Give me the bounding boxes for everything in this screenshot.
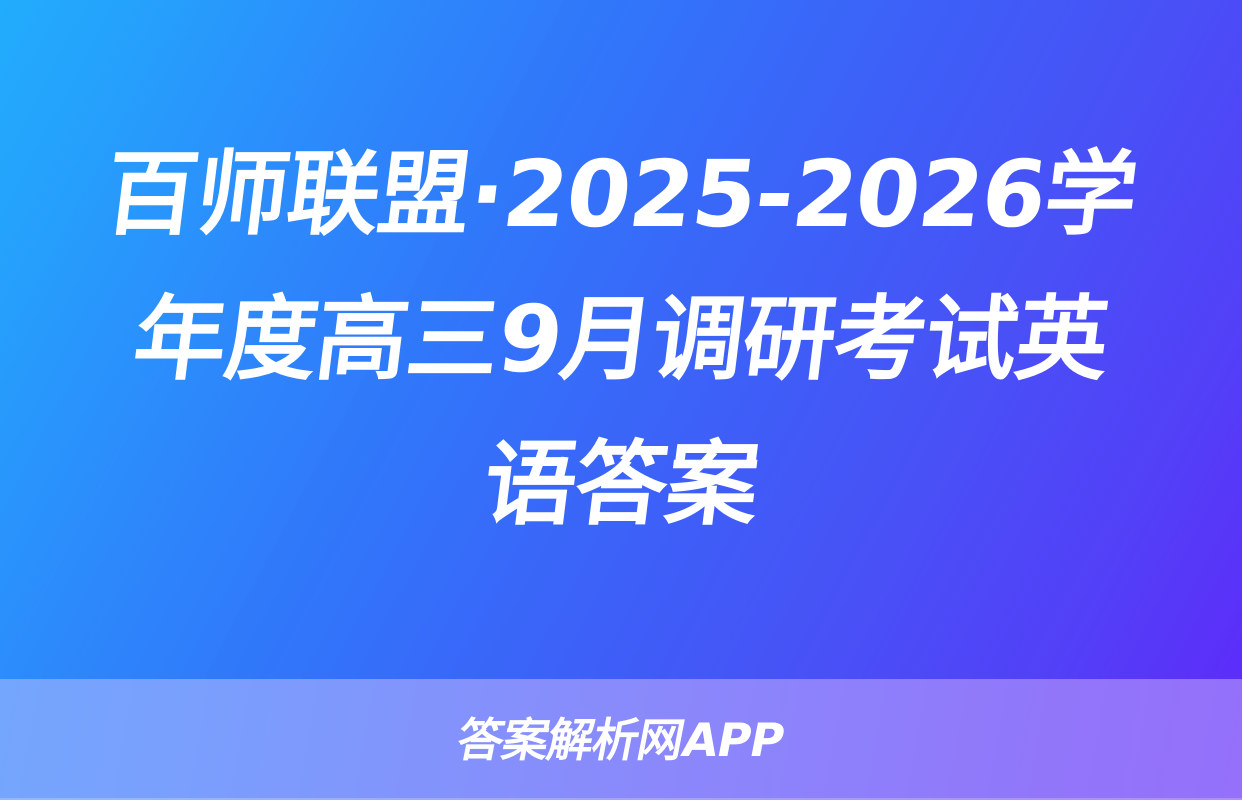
poster-root: 百师联盟·2025-2026学 年度高三9月调研考试英 语答案 答案解析网APP <box>0 0 1242 800</box>
title-line-2: 年度高三9月调研考试英 <box>82 267 1160 412</box>
page-title: 百师联盟·2025-2026学 年度高三9月调研考试英 语答案 <box>91 122 1151 557</box>
title-line-1: 百师联盟·2025-2026学 <box>82 122 1160 267</box>
app-branding-banner: 答案解析网APP <box>0 679 1242 800</box>
title-line-3: 语答案 <box>82 412 1160 557</box>
app-name-label: 答案解析网APP <box>454 717 788 763</box>
hero-gradient-panel: 百师联盟·2025-2026学 年度高三9月调研考试英 语答案 <box>0 0 1242 679</box>
